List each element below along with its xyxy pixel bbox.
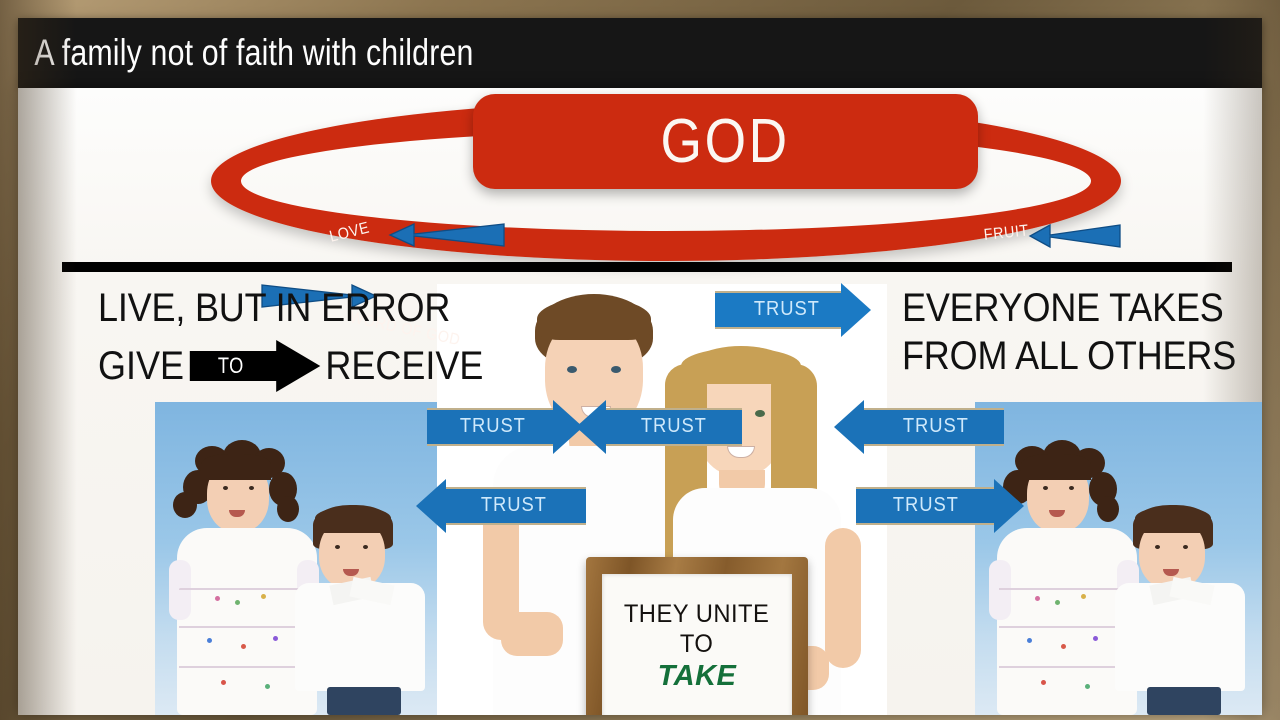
to-label: TO bbox=[218, 353, 244, 379]
whiteboard-surface: THEY UNITE TO TAKE bbox=[602, 574, 792, 715]
slide-root: A family not of faith with children GOD … bbox=[0, 0, 1280, 720]
to-arrow-icon: TO bbox=[189, 340, 320, 392]
board-line-1: THEY UNITE bbox=[624, 599, 770, 629]
give-to-receive-row: GIVE TO RECEIVE bbox=[98, 340, 483, 392]
trust-arrow-lower-right: TRUST bbox=[856, 487, 1026, 525]
children-left-photo bbox=[155, 402, 445, 715]
cycle-label-fruit: FRUIT bbox=[983, 222, 1030, 245]
god-center-box: GOD bbox=[473, 94, 978, 189]
child-boy bbox=[293, 465, 433, 715]
slide-canvas: GOD LOVE WORD OF GOD FRUIT LIVE, BUT IN … bbox=[18, 88, 1262, 715]
trust-arrow-mid-far-left: TRUST bbox=[427, 408, 593, 446]
fruit-arrow-icon bbox=[1026, 220, 1124, 252]
give-label: GIVE bbox=[98, 342, 184, 390]
children-right-photo bbox=[975, 402, 1262, 715]
right-heading: EVERYONE TAKES FROM ALL OTHERS bbox=[902, 284, 1236, 380]
section-divider bbox=[62, 262, 1232, 272]
board-line-3: TAKE bbox=[658, 659, 737, 693]
trust-arrow-top-center-right: TRUST bbox=[715, 291, 881, 329]
page-title: A family not of faith with children bbox=[18, 32, 474, 74]
left-heading: LIVE, BUT IN ERROR bbox=[98, 284, 450, 332]
right-heading-line1: EVERYONE TAKES bbox=[902, 284, 1236, 332]
love-arrow-icon bbox=[386, 218, 508, 252]
child-boy bbox=[1113, 465, 1253, 715]
whiteboard: THEY UNITE TO TAKE bbox=[586, 557, 808, 715]
trust-arrow-mid-right: TRUST bbox=[834, 408, 1004, 446]
trust-arrow-lower-left: TRUST bbox=[416, 487, 586, 525]
right-heading-line2: FROM ALL OTHERS bbox=[902, 332, 1236, 380]
board-line-2: TO bbox=[680, 629, 714, 659]
trust-arrow-mid-inner-left: TRUST bbox=[576, 408, 742, 446]
receive-label: RECEIVE bbox=[325, 342, 483, 390]
slide-title-bar: A family not of faith with children bbox=[18, 18, 1262, 88]
god-label: GOD bbox=[661, 106, 790, 177]
to-arrow-head bbox=[276, 340, 320, 392]
